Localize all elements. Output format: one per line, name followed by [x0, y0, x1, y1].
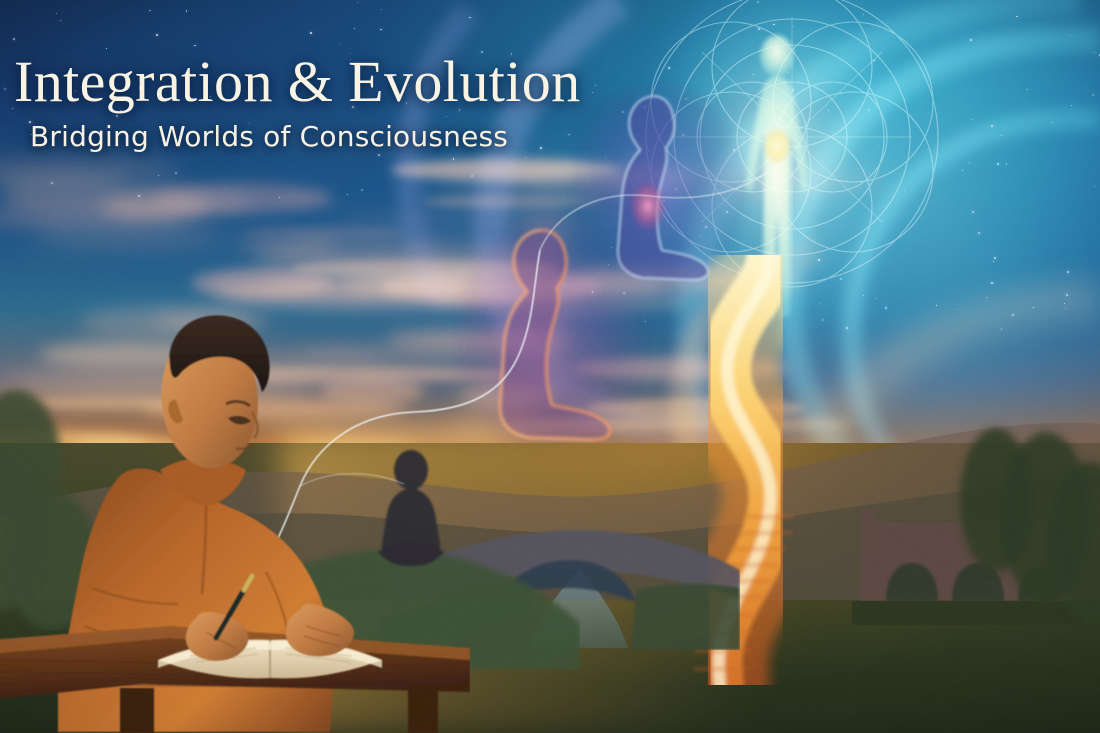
page-title: Integration & Evolution [14, 52, 581, 111]
trees-right [940, 392, 1100, 622]
illustration-canvas: Integration & Evolution Bridging Worlds … [0, 0, 1100, 733]
title-overlay: Integration & Evolution Bridging Worlds … [14, 52, 581, 153]
page-subtitle: Bridging Worlds of Consciousness [30, 120, 581, 153]
writing-man [0, 288, 470, 733]
